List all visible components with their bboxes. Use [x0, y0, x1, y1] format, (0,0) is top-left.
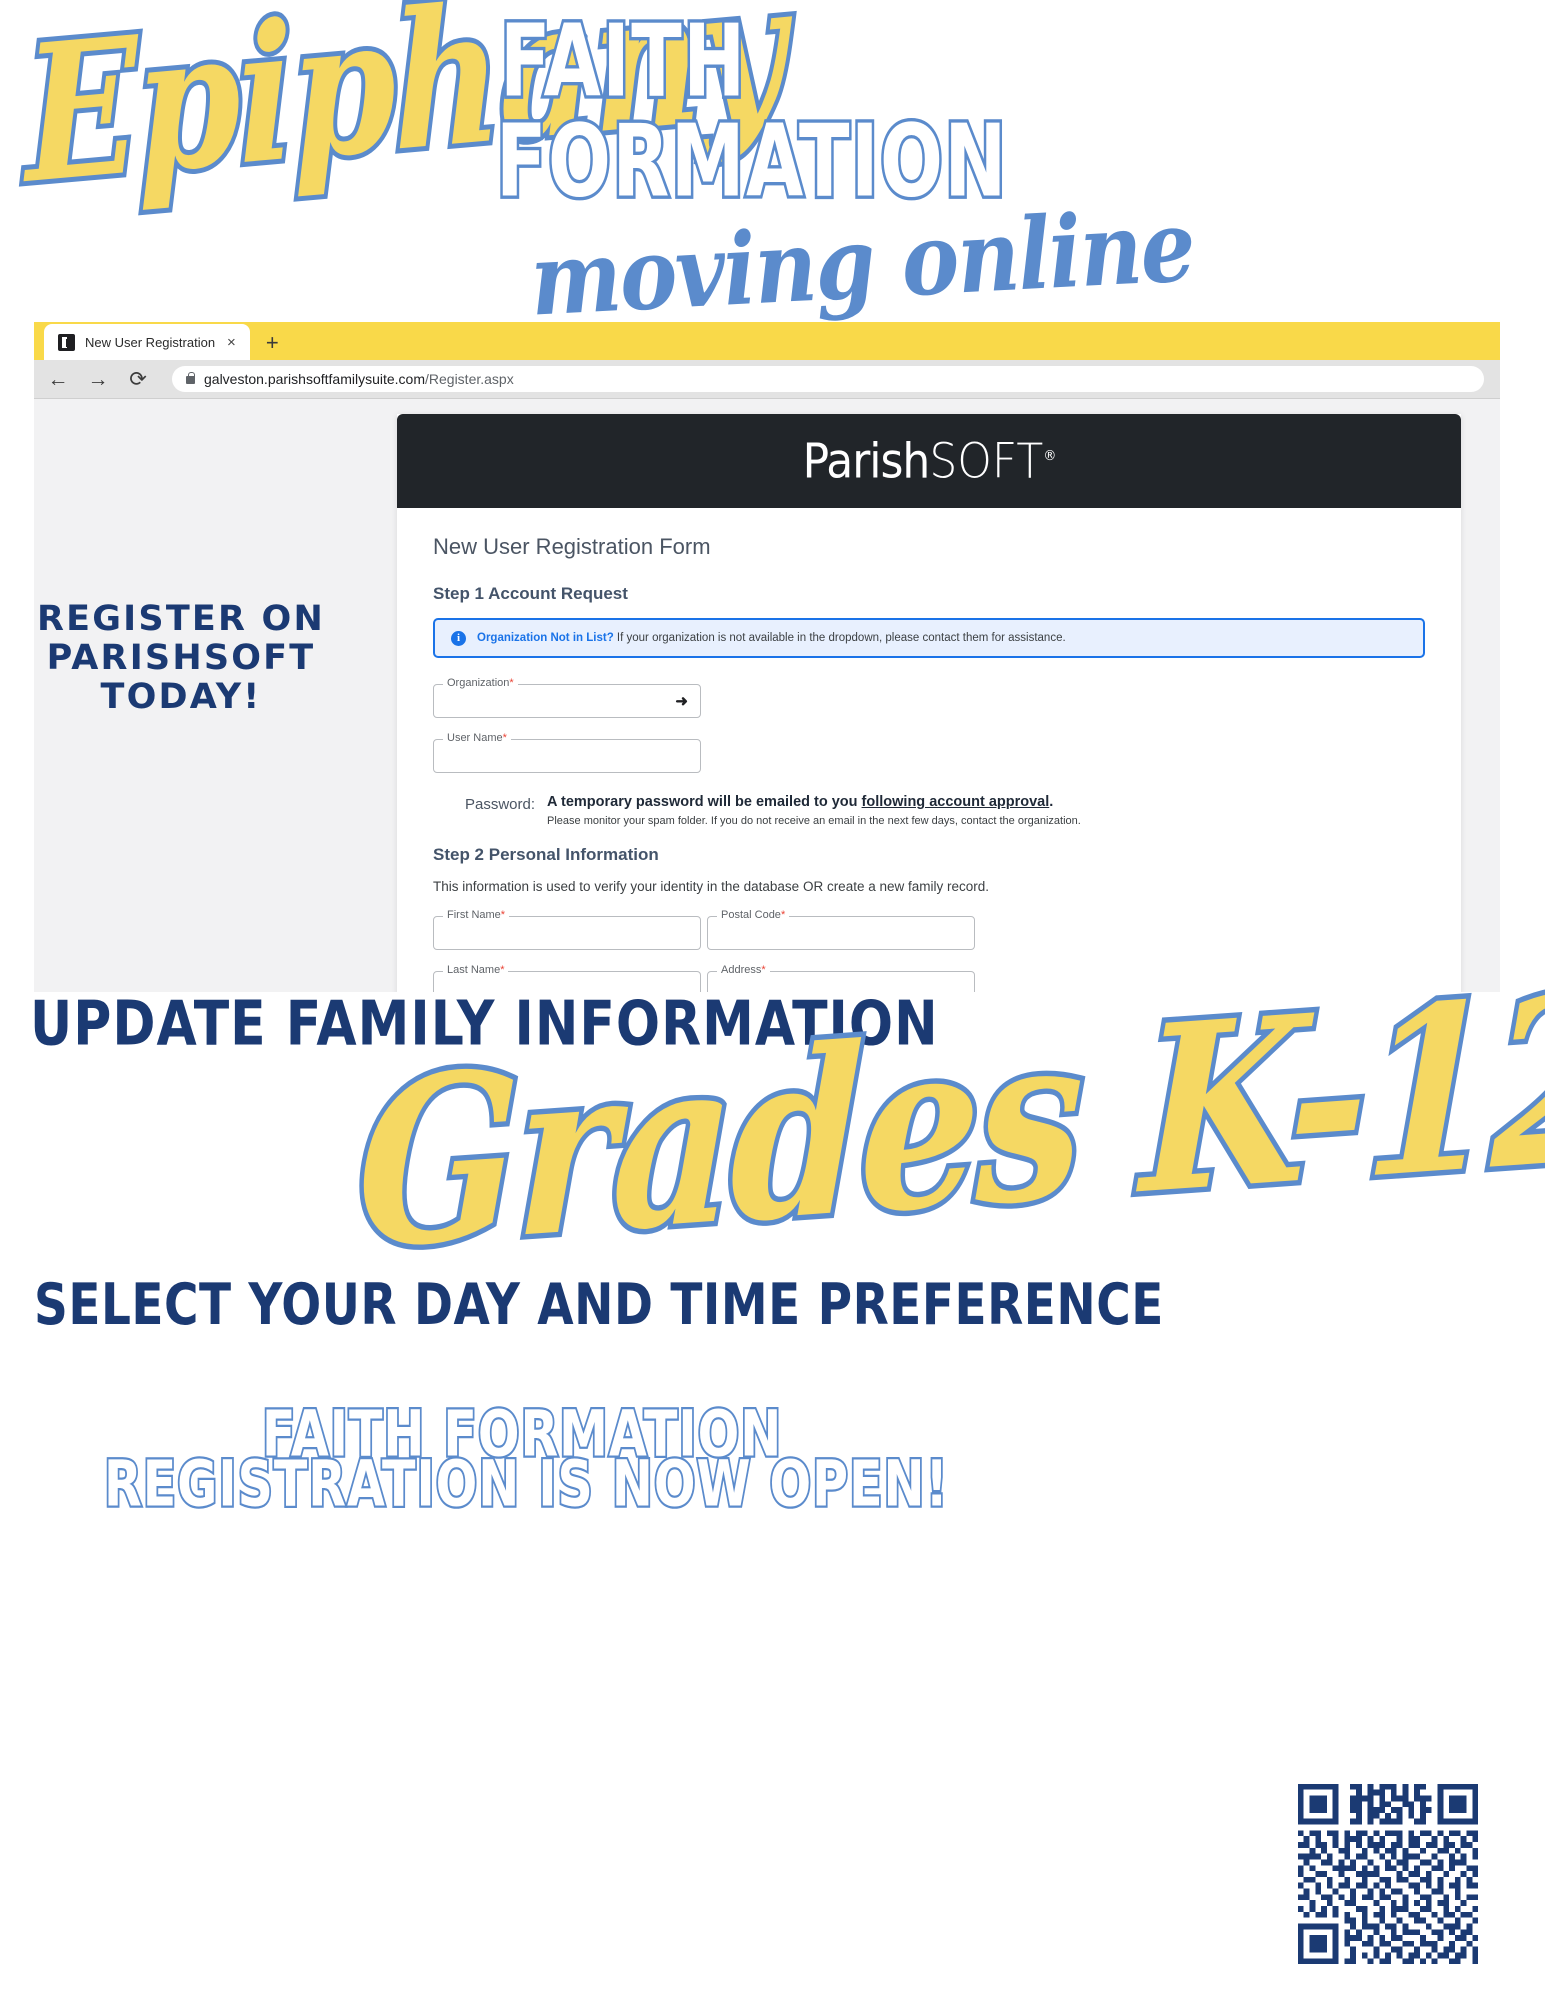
step2-description: This information is used to verify your …: [433, 879, 1425, 894]
organization-not-in-list-alert: i Organization Not in List? If your orga…: [433, 618, 1425, 658]
qr-code-icon[interactable]: [1292, 1778, 1484, 1970]
username-row: User Name*: [433, 739, 1425, 773]
page-title: New User Registration Form: [433, 534, 1425, 560]
browser-tab[interactable]: New User Registration ×: [44, 324, 250, 360]
info-icon: i: [451, 631, 466, 646]
organization-row: Organization* ➜: [433, 684, 1425, 718]
user-name-input[interactable]: User Name*: [433, 739, 701, 773]
first-name-label: First Name*: [443, 909, 509, 921]
address-bar[interactable]: galveston.parishsoftfamilysuite.com/Regi…: [172, 366, 1484, 392]
name-postal-row: First Name* Postal Code*: [433, 916, 1425, 950]
browser-toolbar: ← → ⟳ galveston.parishsoftfamilysuite.co…: [34, 360, 1500, 398]
alert-bold: Organization Not in List?: [477, 632, 614, 644]
url-path: /Register.aspx: [425, 371, 514, 387]
password-message-underline: following account approval: [862, 794, 1050, 810]
footer-line-2: REGISTRATION IS NOW OPEN!: [104, 1455, 949, 1514]
callout-select-day-time: SELECT YOUR DAY AND TIME PREFERENCE: [34, 1274, 1164, 1338]
address-bar-url: galveston.parishsoftfamilysuite.com/Regi…: [204, 371, 514, 387]
registration-card: ParishSOFT® New User Registration Form S…: [397, 414, 1461, 992]
password-message: A temporary password will be emailed to …: [547, 794, 1081, 810]
registration-form: New User Registration Form Step 1 Accoun…: [397, 508, 1461, 992]
parishsoft-favicon-icon: [58, 334, 75, 351]
organization-label: Organization*: [443, 677, 518, 689]
reload-icon[interactable]: ⟳: [126, 369, 150, 390]
headline-formation: FORMATION: [496, 116, 1008, 208]
new-tab-button[interactable]: +: [266, 332, 279, 354]
parishsoft-logo: ParishSOFT®: [803, 433, 1056, 489]
address-input[interactable]: Address*: [707, 971, 975, 992]
subscript-moving-online: moving online: [528, 197, 1196, 331]
poster-root: Epiphany FAITH FORMATION New User Regist…: [0, 0, 1545, 2000]
callout-register-today: REGISTER ON PARISHSOFT TODAY!: [36, 600, 326, 718]
browser-tab-title: New User Registration: [85, 335, 215, 350]
headline-faith: FAITH: [500, 16, 747, 108]
logo-text-parish: Parish: [803, 433, 930, 489]
chevron-down-icon[interactable]: ➜: [675, 694, 688, 709]
parishsoft-header: ParishSOFT®: [397, 414, 1461, 508]
password-info-row: Password: A temporary password will be e…: [433, 794, 1425, 827]
lock-icon: [186, 376, 195, 384]
step2-heading: Step 2 Personal Information: [433, 845, 1425, 865]
browser-tabstrip: New User Registration × +: [34, 322, 1500, 360]
postal-code-label: Postal Code*: [717, 909, 789, 921]
alert-text: Organization Not in List? If your organi…: [477, 632, 1066, 644]
last-name-input[interactable]: Last Name*: [433, 971, 701, 992]
logo-text-soft: SOFT: [929, 433, 1043, 489]
password-submessage: Please monitor your spam folder. If you …: [547, 815, 1081, 827]
step1-heading: Step 1 Account Request: [433, 584, 1425, 604]
registered-trademark-icon: ®: [1043, 448, 1055, 465]
postal-code-input[interactable]: Postal Code*: [707, 916, 975, 950]
last-name-label: Last Name*: [443, 964, 508, 976]
back-icon[interactable]: ←: [46, 369, 70, 390]
organization-select[interactable]: Organization* ➜: [433, 684, 701, 718]
first-name-input[interactable]: First Name*: [433, 916, 701, 950]
forward-icon[interactable]: →: [86, 369, 110, 390]
alert-rest: If your organization is not available in…: [614, 632, 1066, 644]
url-domain: galveston.parishsoftfamilysuite.com: [204, 371, 425, 387]
address-label: Address*: [717, 964, 770, 976]
user-name-label: User Name*: [443, 732, 511, 744]
password-label: Password:: [465, 794, 535, 827]
close-icon[interactable]: ×: [225, 335, 238, 350]
